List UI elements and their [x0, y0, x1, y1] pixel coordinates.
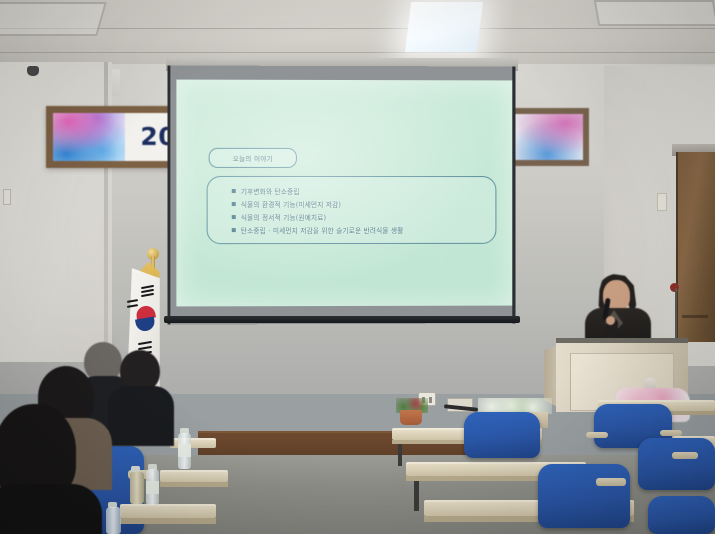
- table: [160, 470, 228, 482]
- tumbler: [130, 472, 144, 504]
- wall-switch[interactable]: [657, 193, 667, 211]
- table-edge: [120, 518, 216, 524]
- slide-bullet-item: 식물의 정서적 기능(원예치료): [232, 210, 496, 223]
- chair-arm: [586, 432, 608, 438]
- bullet-square-icon: [232, 228, 236, 232]
- chair: [464, 412, 540, 458]
- slide-bullet-text: 식물의 환경적 기능(미세먼지 저감): [241, 199, 341, 209]
- chair-arm: [660, 430, 682, 436]
- slide-title-text: 오늘의 이야기: [233, 153, 273, 163]
- chair-arm: [596, 478, 626, 486]
- slide-bullet-box: 기후변화와 탄소중립 식물의 환경적 기능(미세먼지 저감) 식물의 정서적 기…: [207, 176, 497, 244]
- ceiling-camera-icon: [27, 66, 39, 76]
- slide-bullet-item: 기후변화와 탄소중립: [232, 184, 496, 197]
- wall-switch[interactable]: [3, 189, 11, 205]
- lecture-hall-photo: 202 오늘의 이야기 기후변화와 탄소중립 식물의 환경적 기능(미세먼지 저…: [0, 0, 715, 534]
- table-leg: [414, 481, 419, 511]
- bottle-label: [178, 444, 191, 457]
- audience-body: [0, 484, 102, 534]
- chair: [648, 496, 715, 534]
- slide-bullet-text: 탄소중립 · 미세먼지 저감을 위한 슬기로운 반려식물 생활: [241, 224, 404, 234]
- outlet-slot: [429, 397, 432, 403]
- ceiling-seam: [0, 52, 715, 53]
- chair-arm: [672, 452, 698, 459]
- projection-screen: 오늘의 이야기 기후변화와 탄소중립 식물의 환경적 기능(미세먼지 저감) 식…: [167, 65, 515, 324]
- speaker-hand: [606, 316, 615, 325]
- chair: [538, 464, 630, 528]
- slide-bullet-text: 기후변화와 탄소중립: [241, 185, 300, 195]
- table-edge: [160, 482, 228, 487]
- chair: [638, 438, 715, 490]
- bullet-square-icon: [232, 188, 236, 192]
- table-leg: [398, 444, 402, 466]
- slide-bullet-item: 식물의 환경적 기능(미세먼지 저감): [232, 197, 496, 210]
- bullet-square-icon: [232, 215, 236, 219]
- wood-wall-panel: [676, 152, 715, 342]
- ceiling-light-panel: [0, 2, 107, 36]
- tumbler-cap: [131, 466, 140, 472]
- flower-pot: [400, 410, 422, 425]
- projected-slide: 오늘의 이야기 기후변화와 탄소중립 식물의 환경적 기능(미세먼지 저감) 식…: [176, 80, 512, 307]
- audience-body: [108, 386, 174, 446]
- projector-screen-rail: [164, 316, 520, 323]
- slide-bullet-text: 식물의 정서적 기능(원예치료): [241, 212, 327, 222]
- ceiling-seam: [0, 28, 715, 29]
- bottle-label: [146, 481, 159, 494]
- table: [120, 504, 216, 518]
- table: [170, 438, 216, 448]
- ceiling-light-panel-lit: [405, 2, 483, 52]
- audience-member: [110, 350, 172, 436]
- slide-title-box: 오늘의 이야기: [209, 148, 297, 168]
- water-bottle: [106, 507, 121, 534]
- ceiling-light-panel: [594, 0, 715, 26]
- audience-member: [0, 404, 102, 534]
- bullet-square-icon: [232, 202, 236, 206]
- speaker-person: [575, 276, 659, 346]
- slide-bullet-item: 탄소중립 · 미세먼지 저감을 위한 슬기로운 반려식물 생활: [232, 223, 496, 236]
- banner-gradient-art: [53, 113, 125, 161]
